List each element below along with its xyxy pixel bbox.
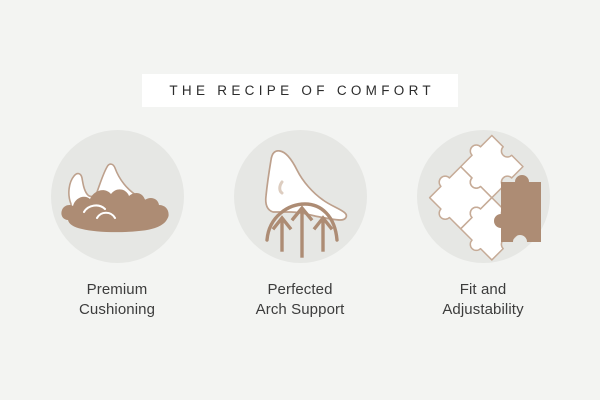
recipe-of-comfort-infographic: THE RECIPE OF COMFORT Premium Cushioning [0, 0, 600, 400]
cushioned-shoe-icon [57, 142, 177, 252]
icon-circle-perfected-arch-support [234, 130, 367, 263]
feature-label-fit-and-adjustability: Fit and Adjustability [442, 280, 523, 320]
feature-fit-and-adjustability: Fit and Adjustability [392, 130, 575, 320]
feature-premium-cushioning: Premium Cushioning [26, 130, 209, 320]
feature-perfected-arch-support: Perfected Arch Support [209, 130, 392, 320]
icon-circle-premium-cushioning [51, 130, 184, 263]
feature-label-premium-cushioning: Premium Cushioning [79, 280, 155, 320]
foot-arch-support-icon [241, 138, 359, 256]
feature-list: Premium Cushioning [0, 130, 600, 320]
puzzle-pieces-icon [421, 138, 545, 256]
icon-circle-fit-and-adjustability [417, 130, 550, 263]
page-title: THE RECIPE OF COMFORT [165, 83, 435, 98]
feature-label-perfected-arch-support: Perfected Arch Support [256, 280, 345, 320]
title-banner: THE RECIPE OF COMFORT [142, 74, 458, 107]
